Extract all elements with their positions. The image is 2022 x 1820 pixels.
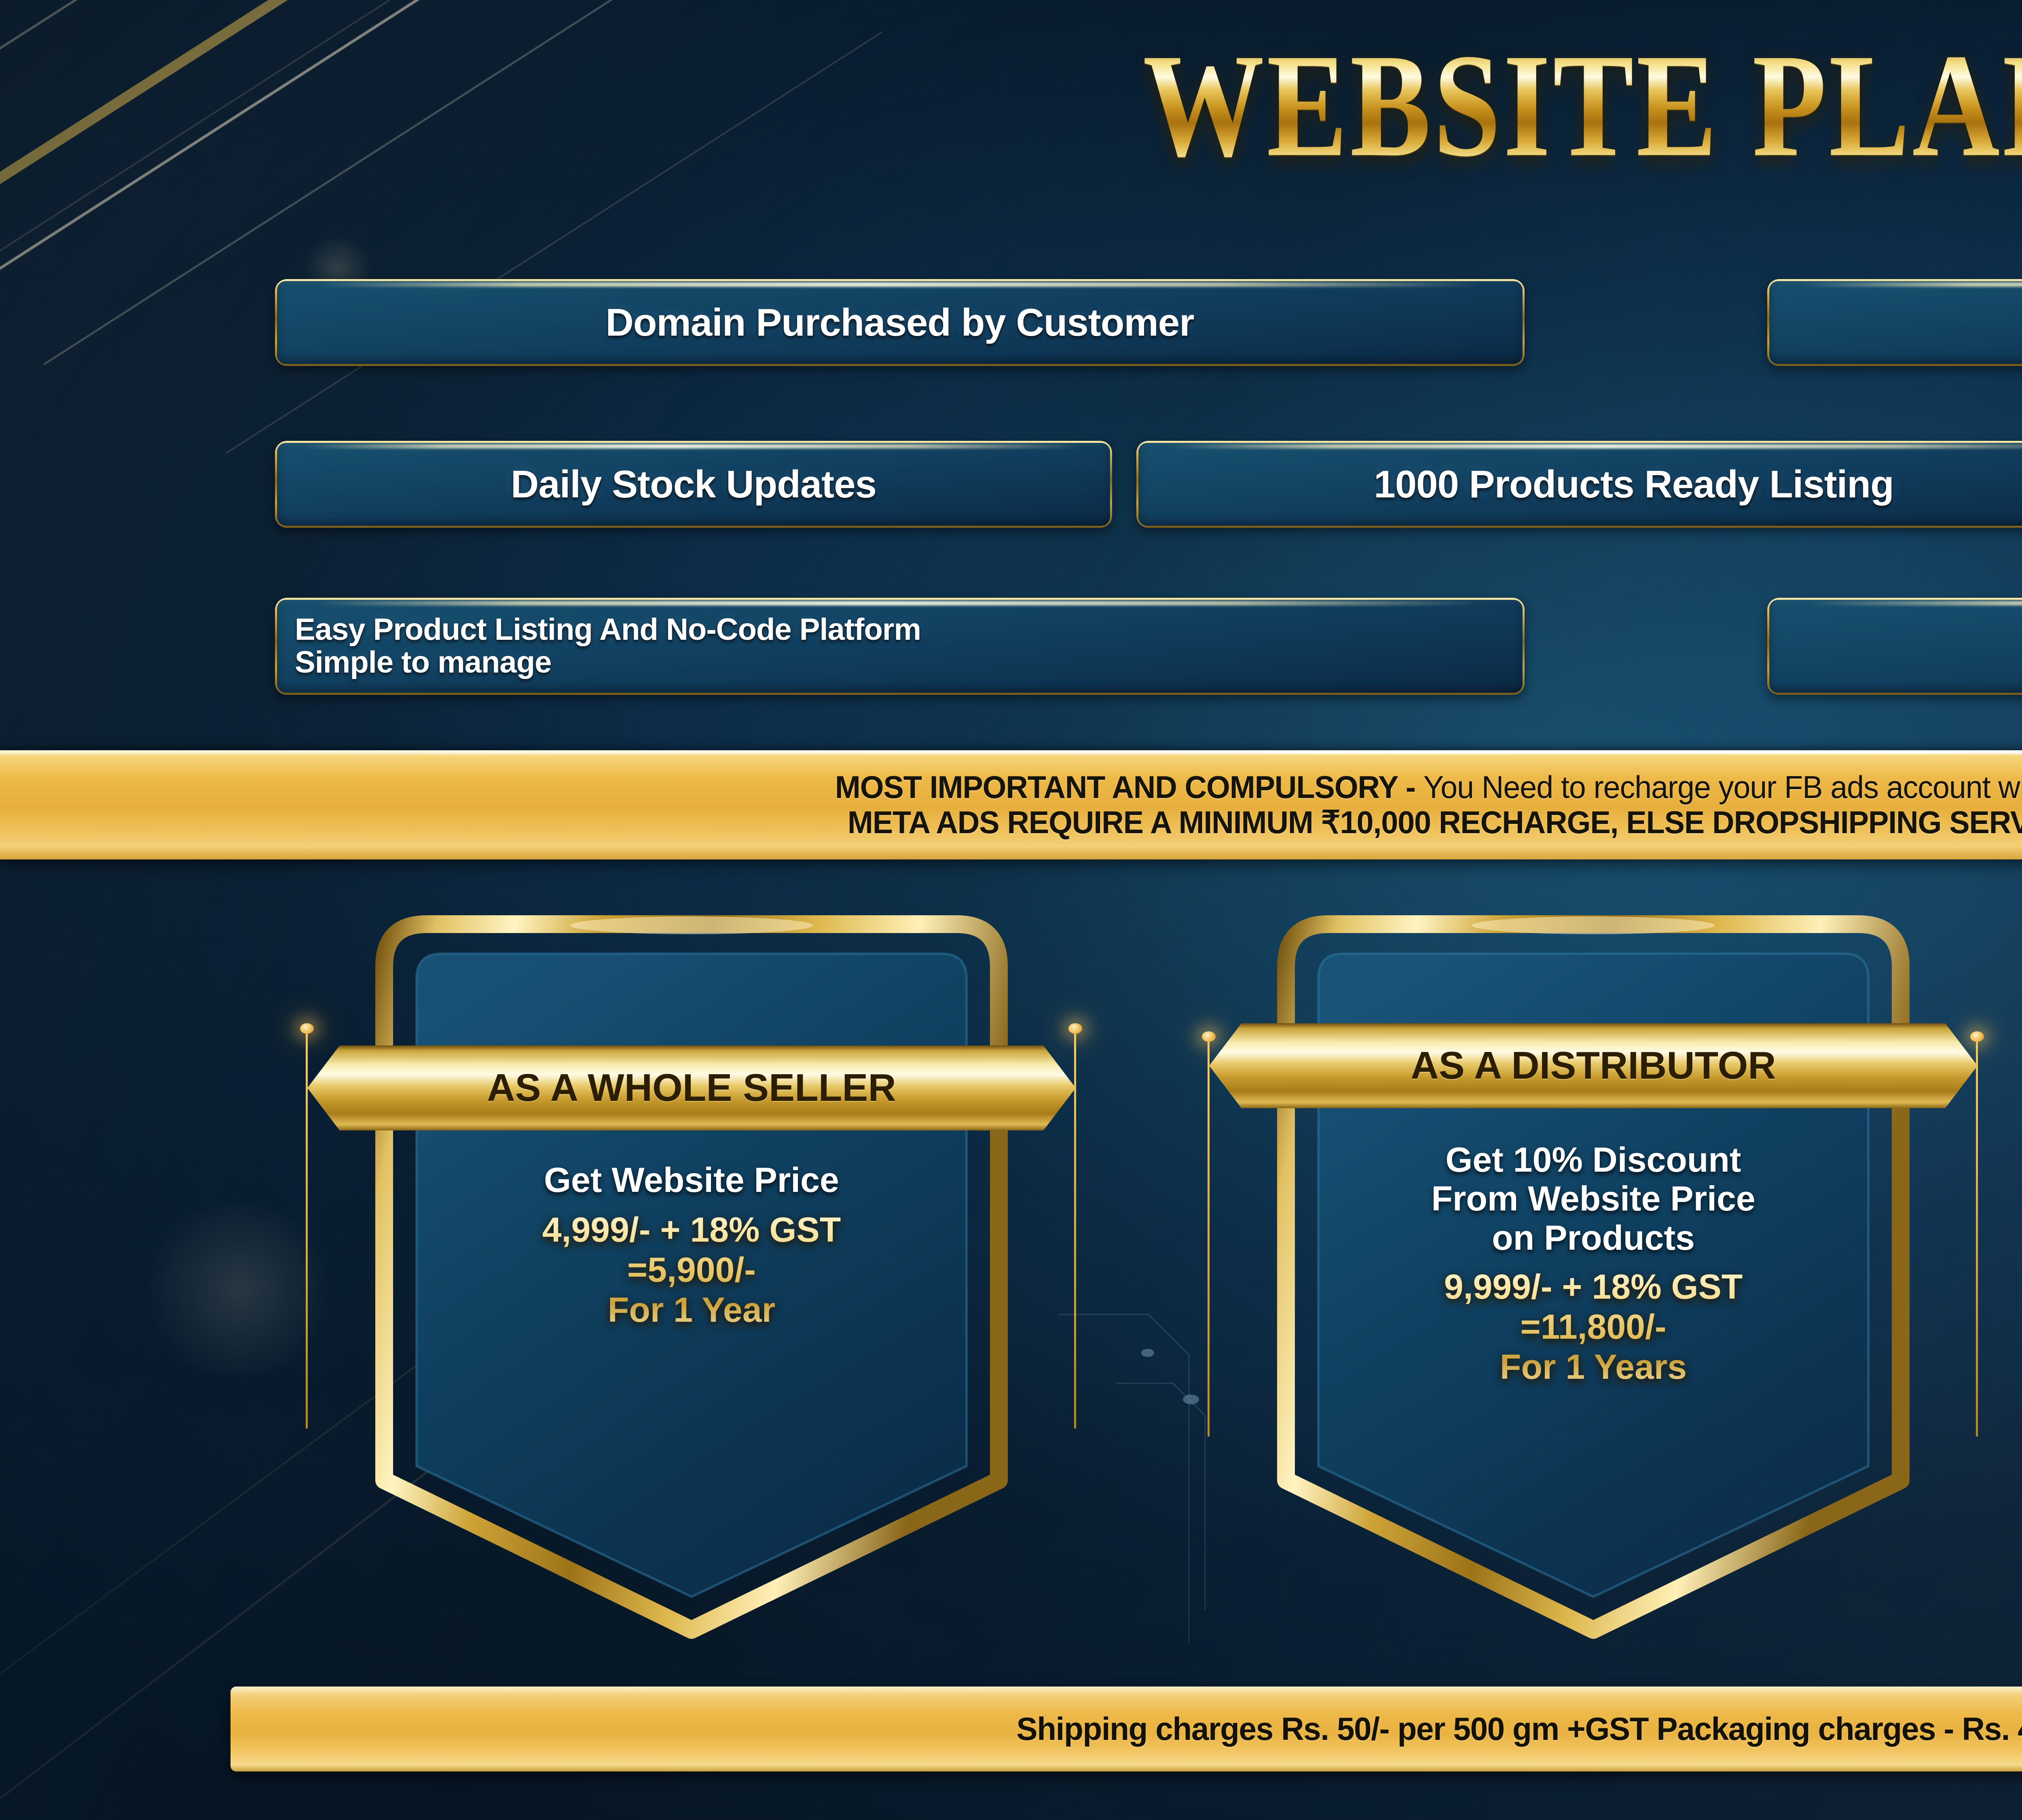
feature-label: Order Management Panel bbox=[1769, 302, 2022, 343]
notice-banner: MOST IMPORTANT AND COMPULSORY - You Need… bbox=[0, 750, 2022, 859]
plan-heading: Get Website Price bbox=[336, 1161, 1047, 1200]
plan-price: 4,999/- + 18% GST =5,900/- For 1 Year bbox=[336, 1210, 1047, 1330]
notice-banner-line-2: META ADS REQUIRE A MINIMUM ₹10,000 RECHA… bbox=[848, 805, 2022, 840]
feature-box-domain-purchased[interactable]: Domain Purchased by Customer bbox=[275, 279, 1525, 366]
feature-box-order-management[interactable]: Order Management Panel bbox=[1767, 279, 2022, 366]
shipping-charges-banner[interactable]: Shipping charges Rs. 50/- per 500 gm +GS… bbox=[231, 1687, 2022, 1771]
feature-box-daily-stock-updates[interactable]: Daily Stock Updates bbox=[275, 441, 1112, 528]
feature-box-easy-product-listing[interactable]: Easy Product Listing And No-Code Platfor… bbox=[275, 598, 1525, 695]
plan-card-distributor[interactable]: AS A DISTRIBUTOR Get 10% Discount From W… bbox=[1237, 902, 1949, 1658]
feature-label: Easy Product Listing And No-Code Platfor… bbox=[277, 614, 939, 679]
plan-price: 9,999/- + 18% GST =11,800/- For 1 Years bbox=[1237, 1267, 1949, 1387]
feature-label: Domain Purchased by Customer bbox=[277, 302, 1523, 343]
feature-box-products-ready-listing[interactable]: 1000 Products Ready Listing bbox=[1136, 441, 2022, 528]
pin-head bbox=[300, 1023, 314, 1034]
plan-body-distributor: Get 10% Discount From Website Price on P… bbox=[1237, 1141, 1949, 1387]
plan-ribbon-distributor: AS A DISTRIBUTOR bbox=[1209, 1023, 1978, 1108]
feature-box-inner: Domain Purchased by Customer bbox=[277, 281, 1523, 364]
plan-ribbon-whole-seller: AS A WHOLE SELLER bbox=[307, 1045, 1076, 1130]
feature-box-inner: Daily Stock Updates bbox=[277, 443, 1110, 526]
notice-banner-line-1: MOST IMPORTANT AND COMPULSORY - You Need… bbox=[835, 770, 2022, 805]
plan-ribbon-label: AS A WHOLE SELLER bbox=[487, 1066, 896, 1110]
notice-banner-line-1-rest: You Need to recharge your FB ads account… bbox=[1423, 769, 2022, 805]
page-title: WEBSITE PLAN bbox=[1143, 31, 2022, 179]
feature-label: Google Ads & Meta Pixel Integration bbox=[1769, 626, 2022, 666]
page-title-wrap: WEBSITE PLAN bbox=[0, 44, 2022, 166]
plan-heading: Get 10% Discount From Website Price on P… bbox=[1237, 1141, 1949, 1257]
feature-box-google-ads-meta-pixel[interactable]: Google Ads & Meta Pixel Integration bbox=[1767, 598, 2022, 695]
feature-box-inner: 1000 Products Ready Listing bbox=[1138, 443, 2022, 526]
feature-box-inner: Google Ads & Meta Pixel Integration bbox=[1769, 600, 2022, 693]
notice-banner-line-1-bold: MOST IMPORTANT AND COMPULSORY - bbox=[835, 769, 1423, 805]
shipping-charges-label: Shipping charges Rs. 50/- per 500 gm +GS… bbox=[1017, 1710, 2022, 1748]
feature-label: Daily Stock Updates bbox=[277, 464, 1110, 505]
feature-label: 1000 Products Ready Listing bbox=[1138, 464, 2022, 505]
plan-body-whole-seller: Get Website Price 4,999/- + 18% GST =5,9… bbox=[336, 1161, 1047, 1330]
plan-card-whole-seller[interactable]: AS A WHOLE SELLER Get Website Price 4,99… bbox=[336, 902, 1047, 1658]
feature-box-inner: Easy Product Listing And No-Code Platfor… bbox=[277, 600, 1523, 693]
feature-box-inner: Order Management Panel bbox=[1769, 281, 2022, 364]
pin-head bbox=[1068, 1023, 1082, 1034]
plan-ribbon-label: AS A DISTRIBUTOR bbox=[1411, 1043, 1776, 1088]
